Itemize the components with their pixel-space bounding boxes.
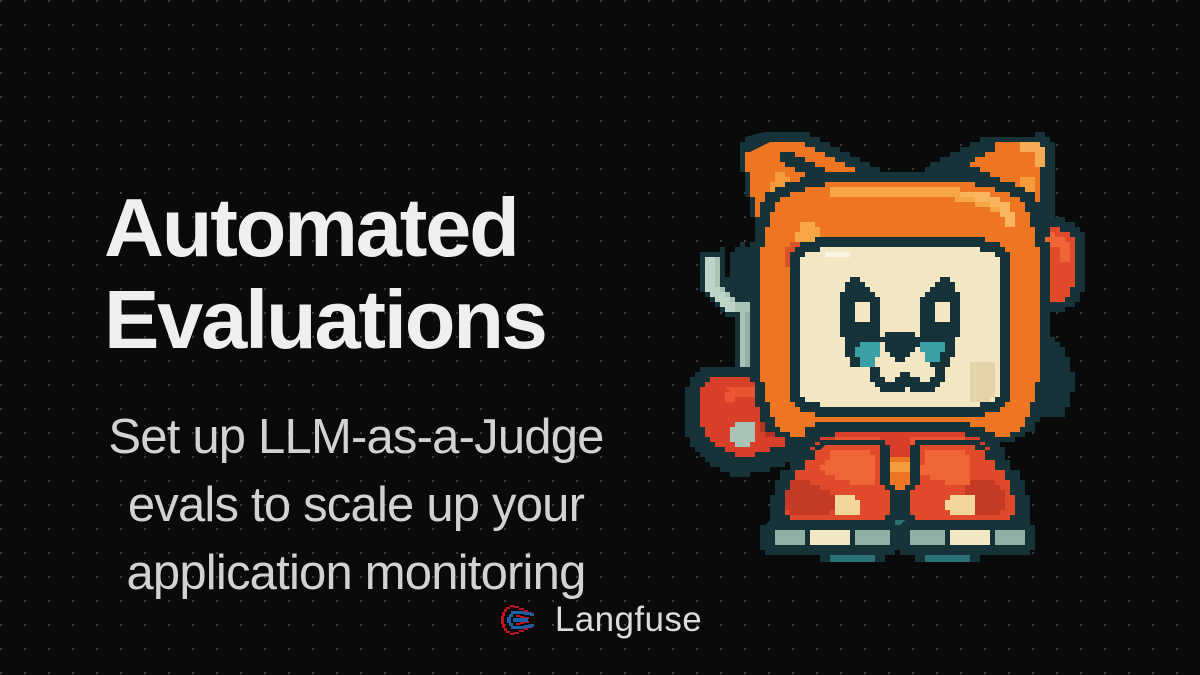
left-eye-shine xyxy=(855,302,870,322)
page-title: Automated Evaluations xyxy=(104,182,664,366)
text-column: Automated Evaluations Set up LLM-as-a-Ju… xyxy=(56,120,656,560)
right-sole-c xyxy=(995,530,1025,545)
brand-lockup: Langfuse xyxy=(0,602,1200,637)
brand-name-label: Langfuse xyxy=(555,602,702,637)
visor-gloss xyxy=(825,252,850,257)
visor-shade xyxy=(970,362,995,402)
page-subtitle: Set up LLM-as-a-Judge evals to scale up … xyxy=(56,403,656,607)
logo-blue-center xyxy=(513,618,528,622)
right-sole-b xyxy=(950,530,990,545)
right-sole-a xyxy=(910,530,945,545)
left-sole-c xyxy=(855,530,890,545)
mascot-boots xyxy=(680,440,1120,570)
social-card: Automated Evaluations Set up LLM-as-a-Ju… xyxy=(0,0,1200,675)
left-sole-a xyxy=(775,530,805,545)
langfuse-logo-icon xyxy=(498,603,538,637)
right-eye-shine xyxy=(935,302,950,322)
left-sole-b xyxy=(810,530,850,545)
